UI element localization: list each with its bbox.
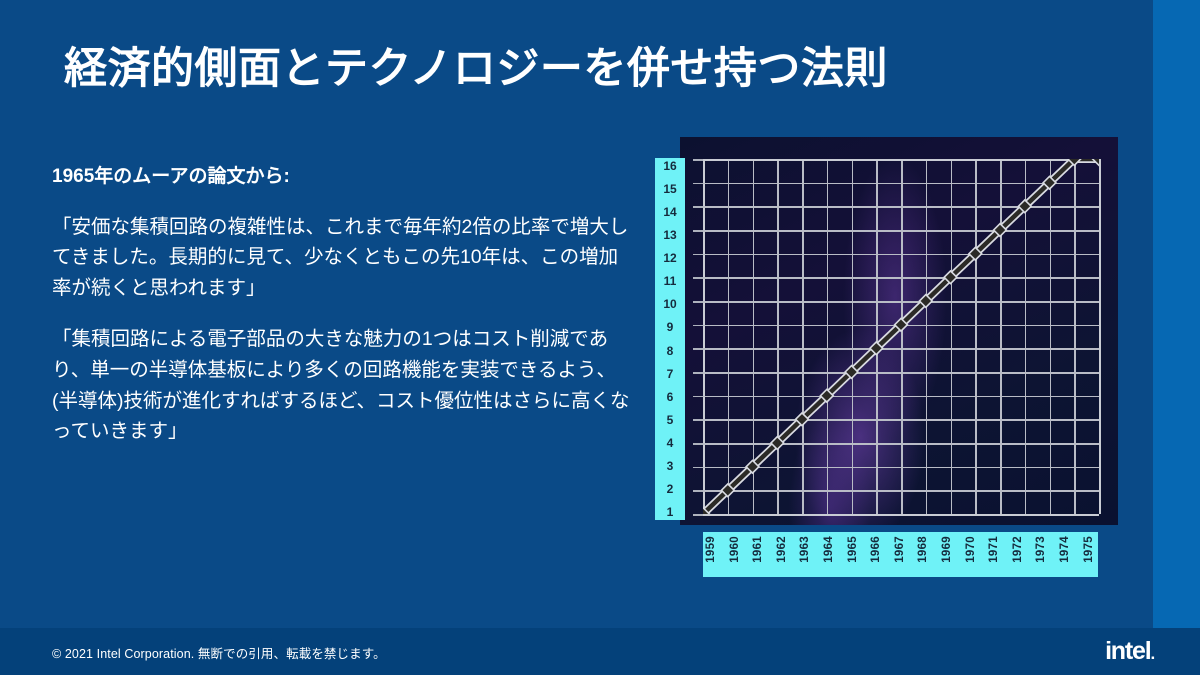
axis-tick-mark	[693, 396, 703, 398]
axis-tick-mark	[693, 206, 703, 208]
chart-y-tick: 9	[667, 321, 674, 333]
chart-y-axis-labels: 16151413121110987654321	[655, 158, 685, 520]
body-column: 1965年のムーアの論文から: 「安価な集積回路の複雑性は、これまで毎年約2倍の…	[52, 163, 630, 467]
chart-x-tick: 1963	[800, 536, 812, 563]
chart-data-line	[703, 159, 1099, 514]
chart-plot-panel	[680, 137, 1118, 525]
chart-x-tick: 1974	[1060, 536, 1072, 563]
chart-x-tick: 1975	[1084, 536, 1096, 563]
intel-logo-wordmark: intel	[1105, 637, 1150, 665]
axis-tick-mark	[693, 277, 703, 279]
chart-y-tick: 7	[667, 368, 674, 380]
chart-x-tick: 1960	[730, 536, 742, 563]
intel-logo: intel.	[1105, 639, 1154, 664]
axis-tick-mark	[693, 443, 703, 445]
right-accent-stripe	[1153, 0, 1200, 628]
chart-x-tick: 1965	[848, 536, 860, 563]
axis-tick-mark	[693, 419, 703, 421]
axis-tick-mark	[693, 372, 703, 374]
chart-y-tick: 11	[664, 275, 677, 287]
chart-x-tick: 1964	[824, 536, 836, 563]
axis-tick-mark	[693, 254, 703, 256]
axis-tick-mark	[693, 159, 703, 161]
axis-tick-mark	[693, 348, 703, 350]
chart-y-tick: 5	[667, 414, 674, 426]
chart-x-axis-labels: 1959196019611962196319641965196619671968…	[703, 532, 1098, 577]
chart-y-tick: 12	[663, 252, 676, 264]
chart-x-tick: 1962	[777, 536, 789, 563]
quote-paragraph-1: 「安価な集積回路の複雑性は、これまで毎年約2倍の比率で増大してきました。長期的に…	[52, 212, 630, 304]
gridline-vertical	[1099, 159, 1101, 514]
axis-tick-mark	[693, 301, 703, 303]
chart-y-tick: 2	[667, 483, 674, 495]
chart-x-tick: 1968	[918, 536, 930, 563]
chart-x-tick: 1966	[871, 536, 883, 563]
data-line-outline	[703, 159, 1099, 514]
page-title: 経済的側面とテクノロジーを併せ持つ法則	[64, 44, 888, 95]
gridline-horizontal	[703, 514, 1099, 516]
chart-x-tick: 1967	[895, 536, 907, 563]
chart-x-tick: 1959	[706, 536, 718, 563]
chart-x-tick: 1961	[753, 536, 765, 563]
chart-y-tick: 8	[667, 345, 674, 357]
axis-tick-mark	[693, 514, 703, 516]
chart-x-tick: 1973	[1036, 536, 1048, 563]
chart-y-tick: 6	[667, 391, 674, 403]
slide-root: 経済的側面とテクノロジーを併せ持つ法則 1965年のムーアの論文から: 「安価な…	[0, 0, 1200, 675]
chart-y-tick: 4	[667, 437, 674, 449]
chart-y-tick: 14	[663, 206, 676, 218]
axis-tick-mark	[693, 183, 703, 185]
lead-text: 1965年のムーアの論文から:	[52, 163, 630, 191]
intel-logo-dot: .	[1150, 644, 1154, 663]
chart-x-tick: 1972	[1013, 536, 1025, 563]
chart-y-tick: 3	[667, 460, 674, 472]
chart-x-tick: 1970	[966, 536, 978, 563]
moores-law-chart: 16151413121110987654321 1959196019611962…	[655, 137, 1118, 578]
chart-y-tick: 16	[663, 160, 676, 172]
axis-tick-mark	[693, 325, 703, 327]
chart-x-tick: 1971	[989, 536, 1001, 563]
footer-copyright: © 2021 Intel Corporation. 無断での引用、転載を禁じます…	[52, 643, 386, 662]
chart-y-tick: 1	[667, 506, 674, 518]
quote-paragraph-2: 「集積回路による電子部品の大きな魅力の1つはコスト削減であり、単一の半導体基板に…	[52, 324, 630, 447]
chart-y-tick: 10	[663, 298, 676, 310]
chart-y-tick: 15	[663, 183, 676, 195]
axis-tick-mark	[693, 230, 703, 232]
chart-x-tick: 1969	[942, 536, 954, 563]
axis-tick-mark	[693, 467, 703, 469]
chart-y-tick: 13	[663, 229, 676, 241]
axis-tick-mark	[693, 490, 703, 492]
